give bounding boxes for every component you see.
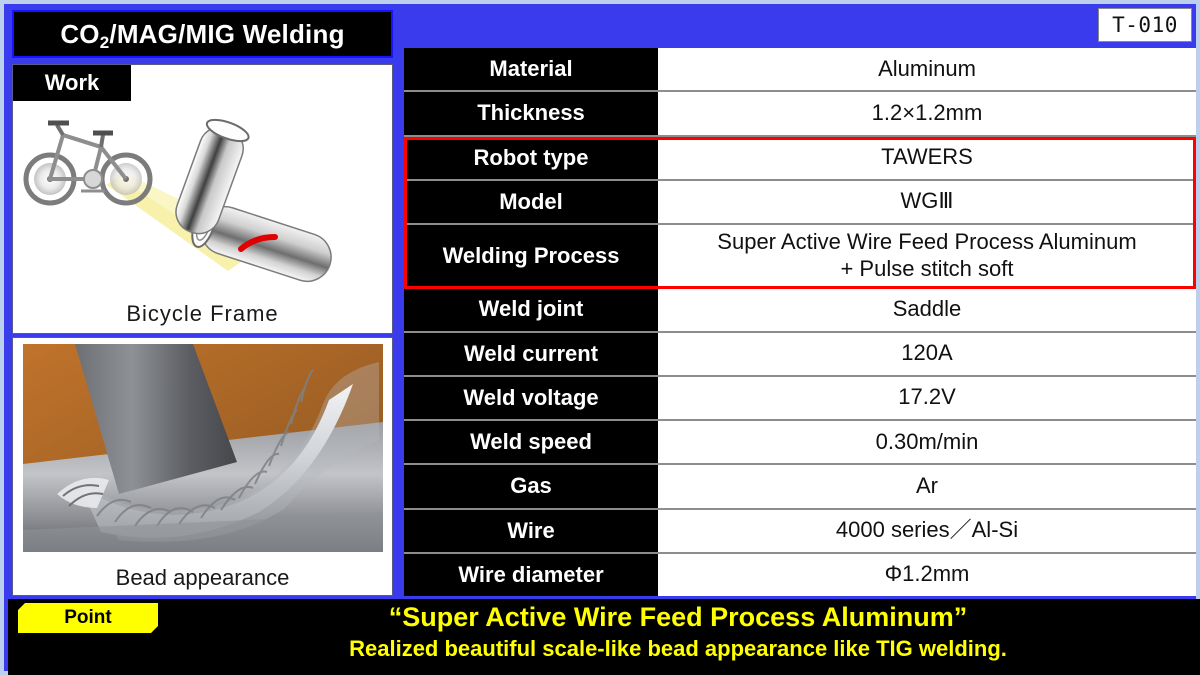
point-text: “Super Active Wire Feed Process Aluminum… <box>168 601 1188 662</box>
row-value: 120A <box>658 333 1196 375</box>
row-value: WGⅢ <box>658 181 1196 223</box>
row-value: Ar <box>658 465 1196 507</box>
table-row: Model WGⅢ <box>404 181 1196 225</box>
row-value-line1: Super Active Wire Feed Process Aluminum <box>717 229 1136 256</box>
row-value: Saddle <box>658 288 1196 330</box>
photo-caption: Bead appearance <box>13 565 392 591</box>
table-row: Weld speed 0.30m/min <box>404 421 1196 465</box>
weld-bead-photo <box>23 344 383 552</box>
row-key: Weld current <box>404 333 658 375</box>
row-value: 17.2V <box>658 377 1196 419</box>
row-value: Φ1.2mm <box>658 554 1196 596</box>
work-tag-label: Work <box>45 70 100 96</box>
row-value-line2: + Pulse stitch soft <box>717 256 1136 283</box>
row-key: Gas <box>404 465 658 507</box>
table-row: Wire 4000 series／Al-Si <box>404 510 1196 554</box>
row-key: Wire <box>404 510 658 552</box>
row-key: Wire diameter <box>404 554 658 596</box>
work-panel: Work Bicycle Frame <box>12 64 393 334</box>
slide-code-label: T-010 <box>1112 13 1178 37</box>
title-subscript: 2 <box>100 33 110 52</box>
table-row: Weld joint Saddle <box>404 288 1196 332</box>
slide-canvas: T-010 CO2/MAG/MIG Welding <box>0 0 1200 675</box>
bicycle-frame-weld-illustration <box>13 99 393 299</box>
row-key: Robot type <box>404 137 658 179</box>
point-line-2: Realized beautiful scale-like bead appea… <box>168 635 1188 663</box>
row-value: 4000 series／Al-Si <box>658 510 1196 552</box>
row-value: 0.30m/min <box>658 421 1196 463</box>
table-row: Weld current 120A <box>404 333 1196 377</box>
point-badge-label: Point <box>64 607 112 629</box>
bicycle-icon <box>26 123 150 203</box>
slide-code-chip: T-010 <box>1098 8 1192 42</box>
row-value: Super Active Wire Feed Process Aluminum … <box>658 225 1196 286</box>
bead-photo-panel: Bead appearance <box>12 337 393 596</box>
row-key: Weld voltage <box>404 377 658 419</box>
table-row: Welding Process Super Active Wire Feed P… <box>404 225 1196 288</box>
row-key: Welding Process <box>404 225 658 286</box>
row-value: TAWERS <box>658 137 1196 179</box>
title-rest: /MAG/MIG Welding <box>109 19 344 49</box>
title-main: CO <box>60 19 99 49</box>
row-key: Weld joint <box>404 288 658 330</box>
row-value: 1.2×1.2mm <box>658 92 1196 134</box>
row-key: Weld speed <box>404 421 658 463</box>
table-row: Material Aluminum <box>404 48 1196 92</box>
row-key: Model <box>404 181 658 223</box>
point-banner: Point “Super Active Wire Feed Process Al… <box>8 599 1200 675</box>
table-row: Weld voltage 17.2V <box>404 377 1196 421</box>
work-caption: Bicycle Frame <box>13 301 392 327</box>
work-tag: Work <box>13 65 131 101</box>
point-line-1: “Super Active Wire Feed Process Aluminum… <box>168 601 1188 635</box>
table-row: Robot type TAWERS <box>404 137 1196 181</box>
t-joint-tubes <box>170 115 337 287</box>
slide-title-bar: CO2/MAG/MIG Welding <box>12 10 393 58</box>
row-key: Thickness <box>404 92 658 134</box>
row-key: Material <box>404 48 658 90</box>
point-badge: Point <box>18 603 158 633</box>
table-row: Gas Ar <box>404 465 1196 509</box>
table-row: Thickness 1.2×1.2mm <box>404 92 1196 136</box>
page-title: CO2/MAG/MIG Welding <box>60 19 344 50</box>
row-value: Aluminum <box>658 48 1196 90</box>
specification-table: Material Aluminum Thickness 1.2×1.2mm Ro… <box>404 48 1196 596</box>
table-row: Wire diameter Φ1.2mm <box>404 554 1196 596</box>
